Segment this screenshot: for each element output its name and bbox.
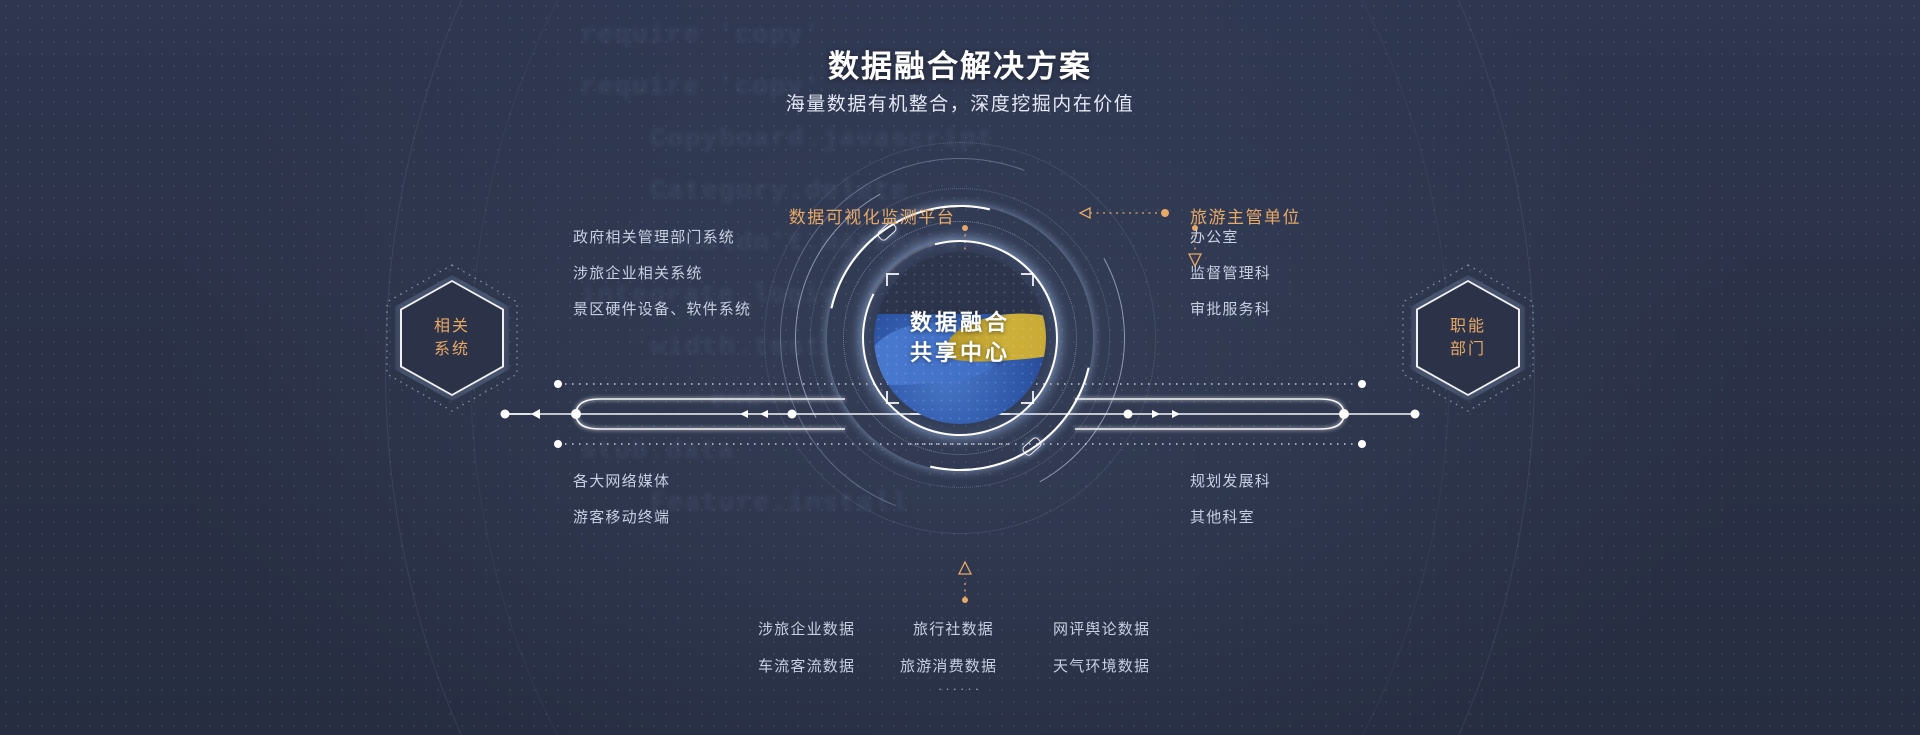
node-functional-departments[interactable]: 职能 部门 <box>1416 280 1520 396</box>
bg-code-line: Copyboard.javascript <box>560 114 1180 166</box>
hex-label-right: 职能 部门 <box>1416 280 1520 396</box>
ring-node-chip-icon <box>1021 436 1043 458</box>
label-bottom-2[interactable]: 网评舆论数据 <box>1053 618 1150 639</box>
label-right-upper-1[interactable]: 监督管理科 <box>1190 262 1271 283</box>
diagram-stage: require 'copy' require 'copy' Copyboard.… <box>0 0 1920 735</box>
label-bottom-0[interactable]: 涉旅企业数据 <box>758 618 855 639</box>
label-tourism-authority[interactable]: 旅游主管单位 <box>1190 203 1301 228</box>
label-right-upper-0[interactable]: 办公室 <box>1190 226 1239 247</box>
hex-label-left-line1: 相关 <box>434 315 470 338</box>
label-bottom-3[interactable]: 车流客流数据 <box>758 655 855 676</box>
globe-dot-texture <box>874 252 1046 424</box>
label-left-lower-1[interactable]: 游客移动终端 <box>573 506 670 527</box>
bg-code-line: width.test <box>560 322 1180 374</box>
hex-label-right-line1: 职能 <box>1450 315 1486 338</box>
page-subtitle: 海量数据有机整合，深度挖掘内在价值 <box>0 89 1920 116</box>
label-right-lower-0[interactable]: 规划发展科 <box>1190 470 1271 491</box>
hex-label-left: 相关 系统 <box>400 280 504 396</box>
hex-label-left-line2: 系统 <box>434 338 470 361</box>
label-data-visualization-platform[interactable]: 数据可视化监测平台 <box>789 203 956 228</box>
page-title: 数据融合解决方案 <box>0 41 1920 86</box>
label-left-upper-1[interactable]: 涉旅企业相关系统 <box>573 262 703 283</box>
label-left-upper-2[interactable]: 景区硬件设备、软件系统 <box>573 298 751 319</box>
label-left-upper-0[interactable]: 政府相关管理部门系统 <box>573 226 735 247</box>
label-left-lower-0[interactable]: 各大网络媒体 <box>573 470 670 491</box>
bg-code-line: end <box>560 374 1180 426</box>
label-bottom-5[interactable]: 天气环境数据 <box>1053 655 1150 676</box>
label-bottom-4[interactable]: 旅游消费数据 <box>900 655 997 676</box>
label-right-lower-1[interactable]: 其他科室 <box>1190 506 1255 527</box>
hex-label-right-line2: 部门 <box>1450 338 1486 361</box>
label-right-upper-2[interactable]: 审批服务科 <box>1190 298 1271 319</box>
label-bottom-1[interactable]: 旅行社数据 <box>913 618 994 639</box>
bottom-ellipsis: ······ <box>0 681 1920 696</box>
center-globe <box>874 252 1046 424</box>
node-related-systems[interactable]: 相关 系统 <box>400 280 504 396</box>
